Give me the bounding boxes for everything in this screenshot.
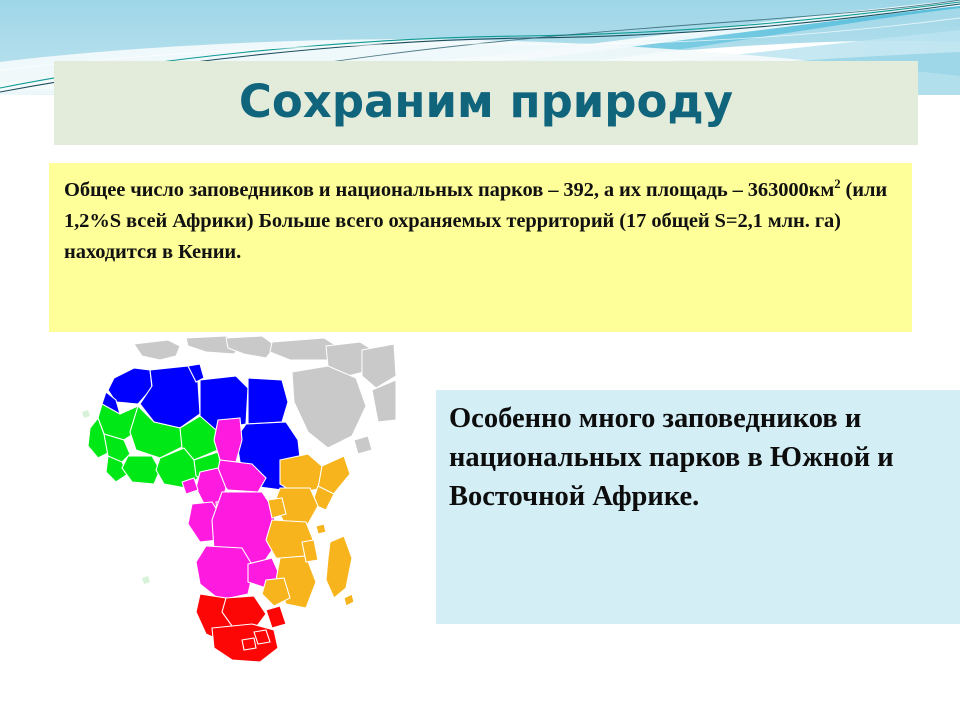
callout-box-blue: Особенно много заповедников и национальн… [436,390,960,624]
title-band: Сохраним природу [54,61,918,145]
africa-regions-map [76,336,396,670]
fact-text: Общее число заповедников и национальных … [64,175,896,268]
slide-canvas: Сохраним природу Общее число заповеднико… [0,0,960,720]
fact-text-part-1: Общее число заповедников и национальных … [64,179,834,201]
callout-text: Особенно много заповедников и национальн… [449,399,950,516]
page-title: Сохраним природу [239,79,733,128]
fact-callout-yellow: Общее число заповедников и национальных … [49,163,912,332]
